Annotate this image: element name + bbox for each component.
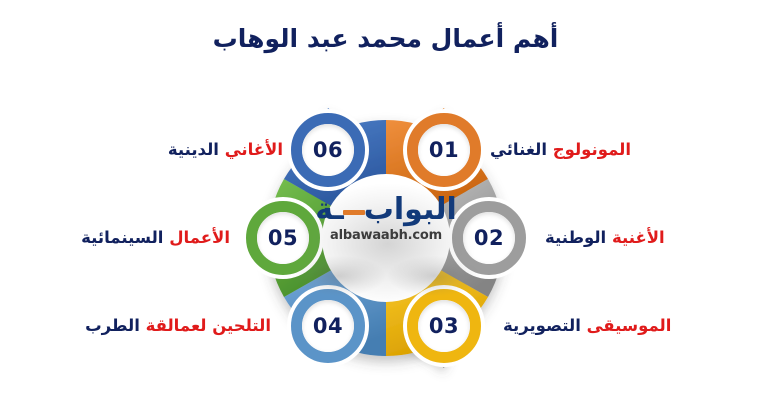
logo-arabic-part2: ـة: [315, 192, 343, 227]
label-03-highlight: الموسيقى: [587, 316, 672, 335]
node-04-number: 04: [313, 314, 343, 338]
hexagon-diagram: 01 02 03 04 05 06: [0, 88, 771, 393]
label-01-highlight: المونولوج: [553, 140, 631, 159]
label-05: الأعمال السينمائية: [81, 228, 230, 248]
label-05-highlight: الأعمال: [169, 228, 230, 247]
node-01[interactable]: 01: [407, 113, 481, 187]
label-06: الأغاني الدينية: [168, 140, 283, 160]
page-title: أهم أعمال محمد عبد الوهاب: [0, 24, 771, 54]
label-06-rest: الدينية: [168, 140, 219, 159]
logo-accent-dash: [343, 210, 365, 215]
label-03-rest: التصويرية: [503, 316, 581, 335]
node-02-number: 02: [474, 226, 504, 250]
label-02-rest: الوطنية: [545, 228, 606, 247]
label-01-rest: الغنائي: [490, 140, 547, 159]
node-01-number: 01: [429, 138, 459, 162]
center-logo: البوابـة albawaabh.com: [311, 194, 461, 282]
infographic-canvas: أهم أعمال محمد عبد الوهاب: [0, 0, 771, 407]
node-06[interactable]: 06: [291, 113, 365, 187]
label-04-rest: الطرب: [85, 316, 140, 335]
logo-url: albawaabh.com: [311, 228, 461, 243]
label-03: الموسيقى التصويرية: [503, 316, 671, 336]
logo-arabic-part1: البواب: [364, 192, 457, 227]
node-05-number: 05: [268, 226, 298, 250]
node-06-number: 06: [313, 138, 343, 162]
label-02-highlight: الأغنية: [612, 228, 665, 247]
label-02: الأغنية الوطنية: [545, 228, 665, 248]
label-04: التلحين لعمالقة الطرب: [85, 316, 271, 336]
node-03-number: 03: [429, 314, 459, 338]
label-05-rest: السينمائية: [81, 228, 163, 247]
label-04-highlight: التلحين لعمالقة: [146, 316, 271, 335]
logo-arabic-text: البوابـة: [311, 194, 461, 226]
node-04[interactable]: 04: [291, 289, 365, 363]
label-06-highlight: الأغاني: [225, 140, 283, 159]
label-01: المونولوج الغنائي: [490, 140, 631, 160]
